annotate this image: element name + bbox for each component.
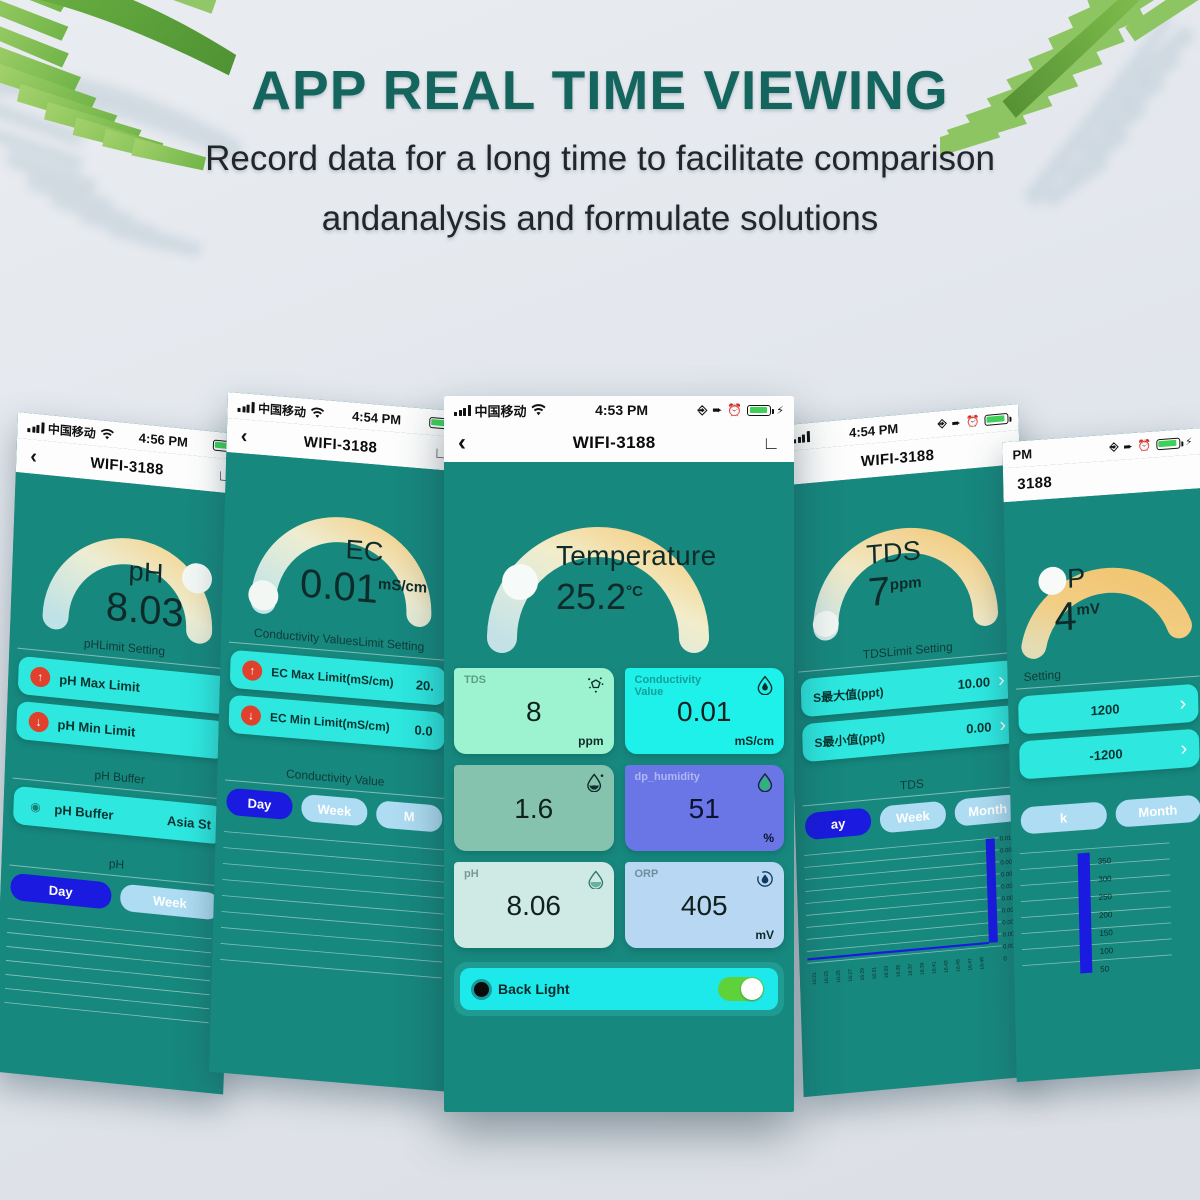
svg-text:50: 50 — [1100, 964, 1110, 974]
metric-card-unit: mS/cm — [735, 734, 774, 748]
subtitle-line-2: andanalysis and formulate solutions — [0, 199, 1200, 239]
row-value — [206, 739, 214, 740]
rotation-lock-icon: ⎆ — [1110, 441, 1119, 455]
back-chevron-icon[interactable]: ‹ — [30, 446, 37, 467]
back-chevron-icon[interactable]: ‹ — [458, 431, 466, 455]
gauge-unit: °C — [626, 583, 643, 600]
svg-text:16:33: 16:33 — [884, 965, 890, 978]
page-title: APP REAL TIME VIEWING — [0, 58, 1200, 122]
phone-screenshot-ph[interactable]: 中国移动 4:56 PM ‹ WIFI-3188 ∟ — [0, 412, 247, 1094]
range-tabs[interactable]: k Month — [1021, 795, 1200, 835]
edit-pencil-icon[interactable]: ∟ — [762, 434, 780, 452]
gauge-unit: mS/cm — [378, 576, 428, 597]
poster-stage: APP REAL TIME VIEWING Record data for a … — [0, 0, 1200, 1200]
tab-month[interactable]: M — [376, 800, 443, 833]
tab-month[interactable]: Month — [1115, 795, 1200, 828]
gauge-temperature: Temperature 25.2°C — [444, 462, 794, 660]
subtitle-line-1: Record data for a long time to facilitat… — [0, 139, 1200, 179]
orp-drop-icon — [755, 869, 775, 889]
signal-bars-icon — [454, 405, 471, 416]
metric-card-value: 51 — [625, 793, 785, 825]
svg-text:16:43: 16:43 — [943, 960, 949, 973]
metric-card-value: 405 — [625, 890, 785, 922]
svg-text:16:49: 16:49 — [979, 957, 985, 970]
metric-cards-grid: TDS 8 ppm Conductivity Value 0.01 m — [444, 660, 794, 952]
svg-text:350: 350 — [1098, 856, 1112, 866]
signal-bars-icon — [793, 431, 810, 443]
status-left: 中国移动 — [237, 397, 324, 421]
signal-bars-icon — [27, 420, 44, 433]
svg-text:16:39: 16:39 — [919, 962, 925, 975]
wifi-icon — [310, 406, 324, 418]
status-left: 中国移动 — [454, 401, 546, 420]
svg-text:16:37: 16:37 — [908, 963, 914, 976]
gauge-value: 25.2°C — [556, 576, 794, 618]
tab-week[interactable]: Week — [301, 794, 368, 827]
svg-text:0: 0 — [1003, 956, 1007, 962]
tab-week[interactable]: Week — [880, 801, 947, 834]
metric-card-unit: ppm — [578, 734, 603, 748]
back-chevron-icon[interactable]: ‹ — [240, 426, 247, 447]
chevron-right-icon: › — [1180, 738, 1187, 758]
location-arrow-icon: ➨ — [951, 416, 961, 430]
svg-text:16:47: 16:47 — [967, 958, 973, 971]
min-limit-icon: ↓ — [28, 711, 49, 733]
screen-body: P 4mV Setting 1200 › -1200 › k Month — [1004, 488, 1200, 1012]
gauge-ec: EC 0.01mS/cm — [227, 452, 457, 639]
chevron-right-icon: › — [1179, 694, 1186, 714]
row-value — [208, 694, 216, 695]
svg-text:16:23: 16:23 — [824, 971, 830, 984]
wifi-icon — [531, 404, 546, 416]
status-left: 中国移动 — [27, 417, 114, 443]
phone-screenshot-orp[interactable]: PM ⎆ ➨ ⏰ ⚡ 3188 — [1002, 428, 1200, 1082]
buffer-icon: ◉ — [25, 796, 46, 818]
gauge-tds: TDS 7ppm — [789, 464, 1020, 650]
screen-body: Temperature 25.2°C TDS 8 ppm — [444, 462, 794, 1016]
status-right: ⎆ ➨ ⏰ ⚡ — [1110, 435, 1193, 454]
row-orp-max-limit[interactable]: 1200 › — [1018, 684, 1199, 735]
row-value: -1200 — [1081, 746, 1123, 764]
gauge-number: 0.01 — [300, 561, 379, 612]
metric-card-conductivity[interactable]: Conductivity Value 0.01 mS/cm — [625, 668, 785, 754]
backlight-toggle[interactable] — [718, 977, 764, 1001]
row-orp-min-limit[interactable]: -1200 › — [1019, 729, 1200, 780]
gauge-orp: P 4mV — [1009, 488, 1200, 668]
chevron-right-icon: › — [998, 670, 1005, 691]
row-label: EC Min Limit(mS/cm) — [270, 710, 390, 734]
status-left — [793, 431, 810, 443]
svg-text:300: 300 — [1098, 874, 1112, 884]
humidity-drop-icon — [755, 772, 775, 792]
nav-title: WIFI-3188 — [861, 446, 935, 470]
status-right: ⎆ ➨ ⏰ — [938, 411, 1009, 430]
svg-text:200: 200 — [1099, 910, 1113, 920]
nav-title: 3188 — [1017, 473, 1052, 492]
alarm-clock-icon: ⏰ — [966, 414, 980, 428]
backlight-label: Back Light — [498, 981, 570, 997]
nav-title: WIFI-3188 — [304, 433, 378, 456]
screen-body: EC 0.01mS/cm Conductivity ValuesLimit Se… — [212, 452, 462, 1001]
conductivity-drop-icon — [755, 675, 775, 695]
metric-card-humidity[interactable]: dp_humidity 51 % — [625, 765, 785, 851]
row-label: pH Min Limit — [57, 716, 135, 739]
status-right: ⎆ ➨ ⏰ ⚡ — [698, 403, 784, 418]
metric-card-value: 8 — [454, 696, 614, 728]
svg-text:16:27: 16:27 — [848, 969, 854, 982]
tab-day[interactable]: Day — [226, 788, 293, 821]
charging-bolt-icon: ⚡ — [1185, 436, 1192, 448]
tab-week[interactable]: k — [1021, 801, 1107, 834]
svg-text:16:31: 16:31 — [872, 966, 878, 979]
carrier-label: 中国移动 — [48, 420, 96, 442]
metric-card-orp[interactable]: ORP 405 mV — [625, 862, 785, 948]
row-value: 20. — [408, 676, 434, 693]
row-label: pH Max Limit — [59, 671, 140, 694]
metric-card-ph[interactable]: pH 8.06 — [454, 862, 614, 948]
alarm-clock-icon: ⏰ — [727, 403, 742, 417]
status-time: PM — [1012, 440, 1109, 462]
backlight-panel: Back Light — [454, 962, 784, 1016]
phone-screenshot-temperature[interactable]: 中国移动 4:53 PM ⎆ ➨ ⏰ ⚡ ‹ WIFI-3188 ∟ — [444, 396, 794, 1112]
location-arrow-icon: ➨ — [1123, 439, 1133, 453]
battery-icon — [747, 405, 771, 416]
screen-body: pH 8.03 pHLimit Setting ↑ pH Max Limit ↓… — [0, 472, 245, 1039]
svg-text:16:45: 16:45 — [955, 959, 961, 972]
wifi-icon — [100, 428, 114, 440]
alarm-clock-icon: ⏰ — [1138, 438, 1152, 452]
chart-tds-day: 0.010.0090.008 0.0070.0060.005 0.0040.00… — [804, 828, 1029, 1028]
row-value: Asia St — [159, 812, 211, 832]
gauge-unit: ppm — [890, 574, 922, 594]
svg-text:150: 150 — [1099, 928, 1113, 938]
nav-bar: ‹ WIFI-3188 ∟ — [444, 424, 794, 462]
chart-ec-day — [220, 822, 444, 1000]
gauge-number: 7 — [867, 569, 891, 615]
metric-card-value: 1.6 — [454, 793, 614, 825]
battery-icon — [1156, 437, 1180, 450]
svg-text:100: 100 — [1100, 946, 1114, 956]
gauge-ph: pH 8.03 — [23, 473, 233, 647]
status-time: 4:53 PM — [546, 402, 698, 418]
metric-card-value: 8.06 — [454, 890, 614, 922]
battery-icon — [984, 412, 1008, 425]
gauge-number: 4 — [1054, 594, 1077, 640]
phone-screenshot-tds[interactable]: 4:54 PM ⎆ ➨ ⏰ ‹ WIFI-3188 ∟ — [783, 404, 1040, 1097]
row-value: 1200 — [1082, 701, 1119, 719]
svg-text:0.01: 0.01 — [1000, 836, 1012, 843]
row-label: EC Max Limit(mS/cm) — [271, 665, 394, 689]
phone-screenshot-ec[interactable]: 中国移动 4:54 PM ‹ WIFI-3188 ∟ — [209, 392, 464, 1092]
carrier-label: 中国移动 — [475, 401, 527, 420]
metric-card-label: dp_humidity — [635, 772, 733, 784]
backlight-dot-icon — [474, 982, 489, 997]
ph-drop-icon — [585, 869, 605, 889]
svg-text:16:29: 16:29 — [860, 967, 866, 980]
rotation-lock-icon: ⎆ — [938, 417, 947, 431]
tds-particles-icon — [585, 675, 605, 695]
min-limit-icon: ↓ — [241, 705, 262, 727]
chart-ph-day — [4, 906, 221, 1037]
rotation-lock-icon: ⎆ — [698, 403, 708, 418]
metric-card-unit: % — [763, 831, 774, 845]
metric-card-label: TDS — [464, 675, 562, 687]
carrier-label: 中国移动 — [258, 399, 306, 420]
max-limit-icon: ↑ — [30, 666, 51, 688]
charging-bolt-icon: ⚡ — [776, 404, 784, 417]
row-value: 0.00 — [958, 719, 992, 737]
svg-text:16:35: 16:35 — [896, 964, 902, 977]
signal-bars-icon — [237, 400, 254, 412]
svg-text:16:41: 16:41 — [931, 961, 937, 974]
metric-card-unit: mV — [755, 928, 774, 942]
row-label: pH Buffer — [54, 801, 114, 822]
metric-card-salinity[interactable]: 1.6 — [454, 765, 614, 851]
metric-card-value: 0.01 — [625, 696, 785, 728]
metric-card-tds[interactable]: TDS 8 ppm — [454, 668, 614, 754]
svg-text:250: 250 — [1099, 892, 1113, 902]
nav-title: WIFI-3188 — [573, 433, 656, 453]
metric-card-label: Conductivity Value — [635, 675, 733, 698]
metric-card-label: ORP — [635, 869, 733, 881]
backlight-row[interactable]: Back Light — [460, 968, 778, 1010]
tab-week[interactable]: Week — [119, 884, 220, 921]
max-limit-icon: ↑ — [242, 660, 263, 682]
screen-body: TDS 7ppm TDSLimit Setting S最大值(ppt) 10.0… — [784, 464, 1036, 1028]
salinity-drop-icon — [585, 772, 605, 792]
chart-orp: 350300250 200150100 50 — [1019, 828, 1200, 1011]
row-value: 0.0 — [406, 721, 432, 738]
row-label: S最小值(ppt) — [814, 727, 885, 750]
svg-text:16:21: 16:21 — [812, 972, 818, 985]
row-label: S最大值(ppt) — [813, 682, 884, 705]
nav-title: WIFI-3188 — [90, 454, 164, 478]
tab-day[interactable]: Day — [10, 873, 111, 910]
row-value: 10.00 — [949, 674, 990, 693]
gauge-number: 25.2 — [556, 576, 626, 617]
gauge-unit: mV — [1076, 600, 1100, 619]
svg-text:16:25: 16:25 — [836, 970, 842, 983]
status-bar: 中国移动 4:53 PM ⎆ ➨ ⏰ ⚡ — [444, 396, 794, 424]
chevron-right-icon: › — [999, 715, 1006, 736]
metric-card-label: pH — [464, 869, 562, 881]
gauge-label: Temperature — [556, 540, 794, 572]
status-time: 4:54 PM — [324, 406, 430, 430]
location-arrow-icon: ➨ — [712, 403, 722, 417]
tab-day[interactable]: ay — [805, 807, 872, 840]
